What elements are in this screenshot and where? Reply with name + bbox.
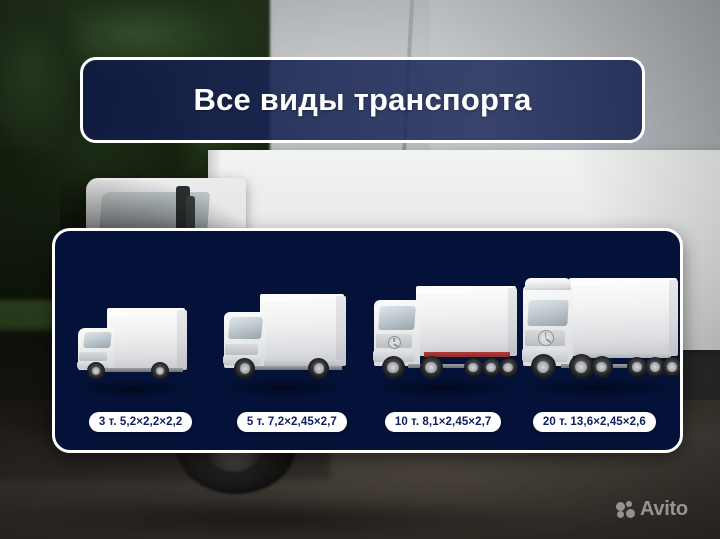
truck-illustration-3t xyxy=(65,264,216,404)
trailer-rear-face xyxy=(508,288,517,356)
mercedes-star-emblem xyxy=(538,330,554,346)
windshield xyxy=(228,317,263,339)
truck-illustration-5t xyxy=(216,264,367,404)
body-highlight xyxy=(262,298,332,302)
vehicle-card-10t: 10 т. 8,1×2,45×2,7 xyxy=(368,242,519,432)
grille xyxy=(225,344,258,355)
avito-watermark: Avito xyxy=(616,498,688,521)
trailer-wheel-2 xyxy=(482,358,501,377)
avito-wordmark: Avito xyxy=(640,498,688,521)
front-wheel xyxy=(87,362,105,380)
vehicle-badge-5t: 5 т. 7,2×2,45×2,7 xyxy=(237,412,347,432)
chassis xyxy=(95,368,183,372)
windshield xyxy=(83,332,112,348)
trailer-rear-face xyxy=(669,280,678,356)
windshield xyxy=(527,300,568,326)
grille xyxy=(79,352,107,361)
promo-image: Все виды транспорта xyxy=(0,0,720,539)
roof-deflector xyxy=(525,278,571,290)
ground-shadow xyxy=(368,378,520,398)
title-banner: Все виды транспорта xyxy=(80,57,645,143)
trailer-wheel-1 xyxy=(464,358,483,377)
windshield xyxy=(378,306,416,330)
vehicle-card-3t: 3 т. 5,2×2,2×2,2 xyxy=(65,242,216,432)
trailer-body xyxy=(416,286,516,356)
drive-wheel-2 xyxy=(591,356,613,378)
vehicle-badge-20t: 20 т. 13,6×2,45×2,6 xyxy=(533,412,656,432)
drive-wheel xyxy=(420,356,443,379)
trailer-wheel-1 xyxy=(627,357,647,377)
rear-wheel xyxy=(308,358,329,379)
vehicles-panel: 3 т. 5,2×2,2×2,2 5 т xyxy=(52,228,683,453)
vehicle-card-list: 3 т. 5,2×2,2×2,2 5 т xyxy=(55,231,680,450)
vehicle-card-5t: 5 т. 7,2×2,45×2,7 xyxy=(216,242,367,432)
ground-shadow xyxy=(519,378,679,398)
trailer-highlight xyxy=(418,290,502,294)
vehicle-badge-3t: 3 т. 5,2×2,2×2,2 xyxy=(89,412,193,432)
front-wheel xyxy=(382,356,405,379)
box-body xyxy=(260,294,344,366)
page-title: Все виды транспорта xyxy=(193,82,531,118)
trailer-wheel-3 xyxy=(499,358,518,377)
truck-illustration-20t xyxy=(519,264,670,404)
trailer-wheel-3 xyxy=(662,357,682,377)
trailer-body xyxy=(569,278,677,356)
front-wheel xyxy=(234,358,255,379)
box-rear-face xyxy=(177,310,187,370)
box-body xyxy=(107,308,185,370)
body-highlight xyxy=(109,312,175,316)
rear-wheel xyxy=(151,362,169,380)
truck-illustration-10t xyxy=(368,264,519,404)
ground-shadow xyxy=(218,378,350,398)
box-rear-face xyxy=(336,296,346,366)
avito-dots-icon xyxy=(616,501,635,519)
vehicle-card-20t: 20 т. 13,6×2,45×2,6 xyxy=(519,242,670,432)
brand-emblem xyxy=(388,336,401,349)
trailer-highlight xyxy=(571,282,661,286)
front-wheel xyxy=(531,354,556,379)
ground-shadow xyxy=(73,380,191,398)
vehicle-badge-10t: 10 т. 8,1×2,45×2,7 xyxy=(385,412,502,432)
